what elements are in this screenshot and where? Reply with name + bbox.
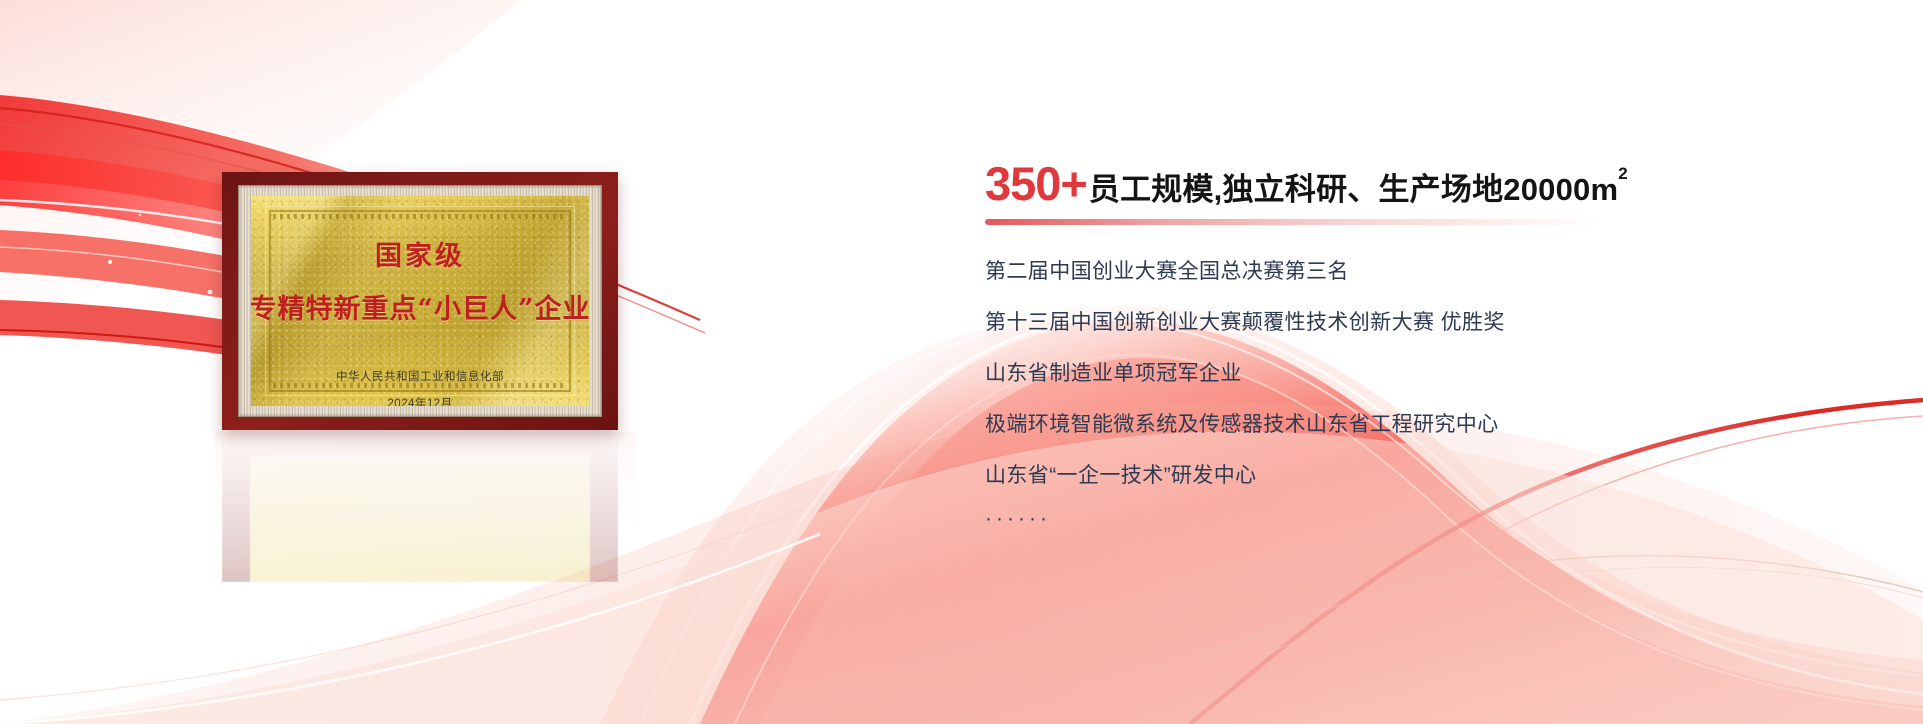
plaque-silver-bezel: 国家级 专精特新重点“小巨人”企业 中华人民共和国工业和信息化部 2024年12… bbox=[238, 185, 602, 417]
plaque-reflection-plate bbox=[250, 455, 590, 582]
award-plaque[interactable]: 国家级 专精特新重点“小巨人”企业 中华人民共和国工业和信息化部 2024年12… bbox=[222, 172, 618, 430]
plaque-text-block: 国家级 专精特新重点“小巨人”企业 中华人民共和国工业和信息化部 2024年12… bbox=[251, 196, 589, 406]
plaque-title: 国家级 bbox=[375, 234, 465, 273]
plaque-reflection bbox=[222, 432, 618, 582]
promo-banner: 国家级 专精特新重点“小巨人”企业 中华人民共和国工业和信息化部 2024年12… bbox=[0, 0, 1923, 724]
plaque-date: 2024年12月 bbox=[387, 395, 452, 406]
plaque-subtitle: 专精特新重点“小巨人”企业 bbox=[251, 287, 589, 326]
headline: 350+ 员工规模,独立科研、生产场地20000m2 bbox=[985, 160, 1865, 207]
headline-description-text: 员工规模,独立科研、生产场地20000m bbox=[1089, 172, 1618, 207]
headline-underline bbox=[985, 219, 1605, 225]
plaque-gold-plate: 国家级 专精特新重点“小巨人”企业 中华人民共和国工业和信息化部 2024年12… bbox=[251, 196, 589, 406]
list-ellipsis: ······ bbox=[985, 508, 1865, 529]
headline-number: 350+ bbox=[985, 160, 1087, 207]
content-column: 350+ 员工规模,独立科研、生产场地20000m2 第二届中国创业大赛全国总决… bbox=[985, 160, 1865, 529]
plaque-issuer: 中华人民共和国工业和信息化部 bbox=[336, 368, 504, 384]
list-item: 山东省制造业单项冠军企业 bbox=[985, 363, 1865, 384]
plaque-reflection-frame bbox=[222, 432, 618, 582]
list-item: 山东省“一企一技术”研发中心 bbox=[985, 465, 1865, 486]
headline-superscript: 2 bbox=[1618, 164, 1628, 183]
plaque-outer-frame: 国家级 专精特新重点“小巨人”企业 中华人民共和国工业和信息化部 2024年12… bbox=[222, 172, 618, 430]
achievements-list: 第二届中国创业大赛全国总决赛第三名 第十三届中国创新创业大赛颠覆性技术创新大赛 … bbox=[985, 261, 1865, 529]
list-item: 极端环境智能微系统及传感器技术山东省工程研究中心 bbox=[985, 414, 1865, 435]
list-item: 第十三届中国创新创业大赛颠覆性技术创新大赛 优胜奖 bbox=[985, 312, 1865, 333]
list-item: 第二届中国创业大赛全国总决赛第三名 bbox=[985, 261, 1865, 282]
headline-description: 员工规模,独立科研、生产场地20000m2 bbox=[1089, 174, 1628, 205]
